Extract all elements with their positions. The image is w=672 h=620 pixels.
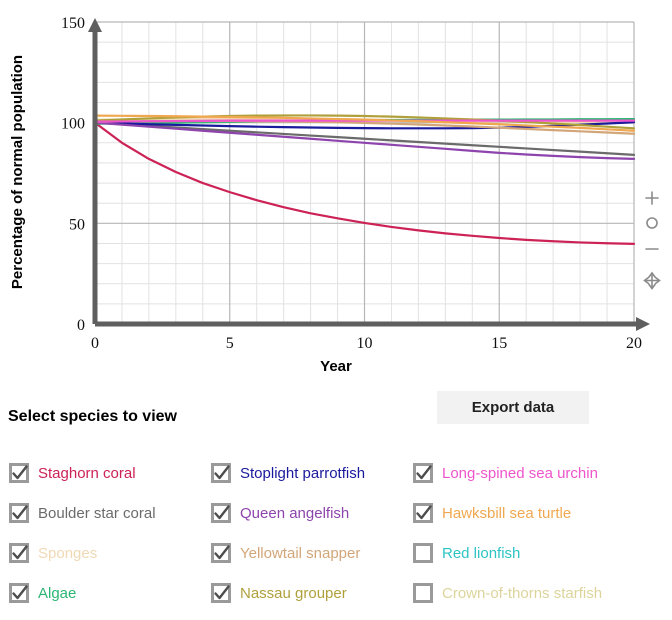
species-toggle[interactable]: Stoplight parrotfish [202, 453, 404, 493]
species-toggle[interactable]: Algae [0, 573, 202, 613]
species-label: Staghorn coral [38, 466, 136, 481]
species-checkbox-grid: Staghorn coralStoplight parrotfishLong-s… [0, 453, 672, 613]
y-tick-label: 0 [77, 317, 85, 334]
export-data-button[interactable]: Export data [437, 391, 589, 424]
species-label: Algae [38, 586, 76, 601]
species-label: Hawksbill sea turtle [442, 506, 571, 521]
checkbox-checked-icon[interactable] [211, 583, 231, 603]
species-label: Sponges [38, 546, 97, 561]
species-toggle[interactable]: Staghorn coral [0, 453, 202, 493]
x-tick-label: 5 [226, 335, 234, 352]
species-toggle[interactable]: Sponges [0, 533, 202, 573]
species-toggle[interactable]: Queen angelfish [202, 493, 404, 533]
species-label: Crown-of-thorns starfish [442, 586, 602, 601]
species-label: Long-spined sea urchin [442, 466, 598, 481]
checkbox-checked-icon[interactable] [211, 463, 231, 483]
pan-move-icon[interactable] [645, 273, 660, 289]
checkbox-checked-icon[interactable] [413, 463, 433, 483]
species-label: Boulder star coral [38, 506, 156, 521]
x-tick-label: 10 [357, 335, 373, 352]
checkbox-checked-icon[interactable] [9, 543, 29, 563]
zoom-reset-icon[interactable] [647, 218, 657, 228]
checkbox-checked-icon[interactable] [9, 503, 29, 523]
chart-zoom-controls[interactable] [645, 192, 660, 289]
select-species-title: Select species to view [8, 408, 177, 426]
species-toggle[interactable]: Red lionfish [404, 533, 672, 573]
checkbox-checked-icon[interactable] [211, 503, 231, 523]
checkbox-unchecked-icon[interactable] [413, 583, 433, 603]
checkbox-checked-icon[interactable] [9, 463, 29, 483]
species-toggle[interactable]: Nassau grouper [202, 573, 404, 613]
y-axis-title: Percentage of normal population [9, 55, 26, 289]
x-axis-title: Year [320, 358, 352, 375]
species-toggle[interactable]: Long-spined sea urchin [404, 453, 672, 493]
population-viewer: 05010015005101520 Percentage of normal p… [0, 0, 672, 620]
species-label: Queen angelfish [240, 506, 349, 521]
checkbox-unchecked-icon[interactable] [413, 543, 433, 563]
checkbox-checked-icon[interactable] [211, 543, 231, 563]
x-tick-label: 0 [91, 335, 99, 352]
species-toggle[interactable]: Yellowtail snapper [202, 533, 404, 573]
chart-region: 05010015005101520 Percentage of normal p… [0, 0, 672, 380]
species-label: Stoplight parrotfish [240, 466, 365, 481]
species-toggle[interactable]: Hawksbill sea turtle [404, 493, 672, 533]
zoom-in-icon[interactable] [646, 192, 658, 204]
x-tick-label: 15 [491, 335, 507, 352]
series-line [95, 121, 634, 122]
species-toggle[interactable]: Boulder star coral [0, 493, 202, 533]
checkbox-checked-icon[interactable] [9, 583, 29, 603]
x-tick-label: 20 [626, 335, 642, 352]
species-label: Nassau grouper [240, 586, 347, 601]
y-tick-label: 150 [61, 15, 85, 32]
species-label: Yellowtail snapper [240, 546, 360, 561]
checkbox-checked-icon[interactable] [413, 503, 433, 523]
species-toggle[interactable]: Crown-of-thorns starfish [404, 573, 672, 613]
species-label: Red lionfish [442, 546, 520, 561]
y-tick-label: 100 [61, 116, 85, 133]
population-line-chart: 05010015005101520 Percentage of normal p… [0, 0, 672, 380]
y-tick-label: 50 [69, 216, 85, 233]
